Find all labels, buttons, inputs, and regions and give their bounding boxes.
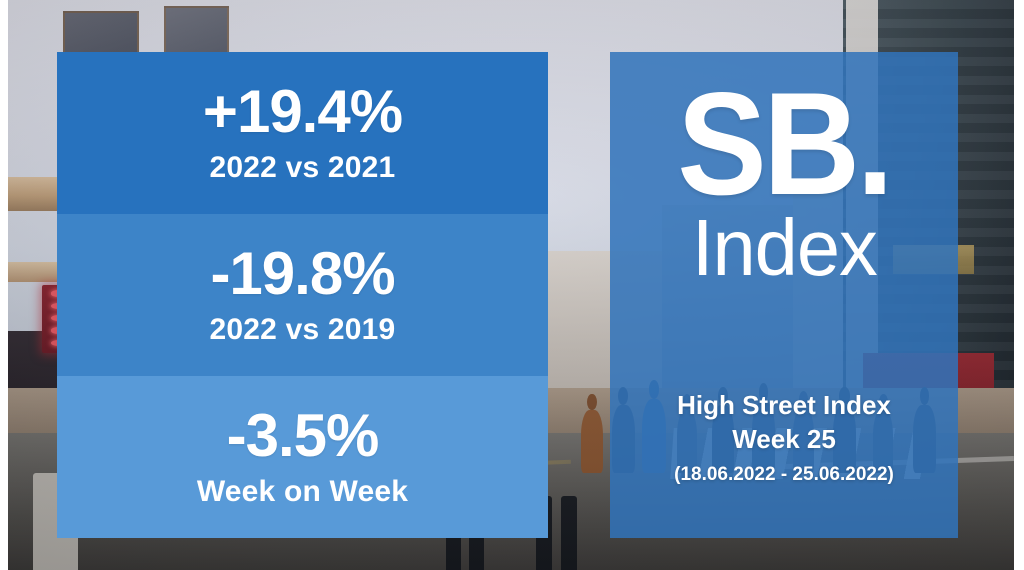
infographic-canvas: +19.4% 2022 vs 2021 -19.8% 2022 vs 2019 … (0, 0, 1024, 570)
stat-label: Week on Week (197, 475, 408, 508)
report-caption: High Street Index Week 25 (18.06.2022 - … (610, 389, 958, 486)
stat-panel-2022-vs-2019: -19.8% 2022 vs 2019 (57, 214, 548, 376)
report-title: High Street Index (610, 389, 958, 422)
report-week: Week 25 (610, 423, 958, 456)
photo-frame: +19.4% 2022 vs 2021 -19.8% 2022 vs 2019 … (8, 0, 1014, 570)
brand-panel: SB. Index High Street Index Week 25 (18.… (610, 52, 958, 538)
stat-value: -19.8% (210, 244, 394, 304)
report-date-range: (18.06.2022 - 25.06.2022) (610, 464, 958, 486)
sb-index-logo: SB. Index (668, 80, 899, 286)
stat-label: 2022 vs 2019 (210, 313, 396, 346)
logo-primary-text: SB. (678, 80, 891, 208)
stat-panel-2022-vs-2021: +19.4% 2022 vs 2021 (57, 52, 548, 214)
stat-panel-stack: +19.4% 2022 vs 2021 -19.8% 2022 vs 2019 … (57, 52, 548, 538)
stat-value: -3.5% (227, 406, 379, 466)
logo-secondary-text: Index (692, 210, 877, 286)
stat-panel-week-on-week: -3.5% Week on Week (57, 376, 548, 538)
stat-value: +19.4% (203, 82, 402, 142)
stat-label: 2022 vs 2021 (210, 151, 396, 184)
